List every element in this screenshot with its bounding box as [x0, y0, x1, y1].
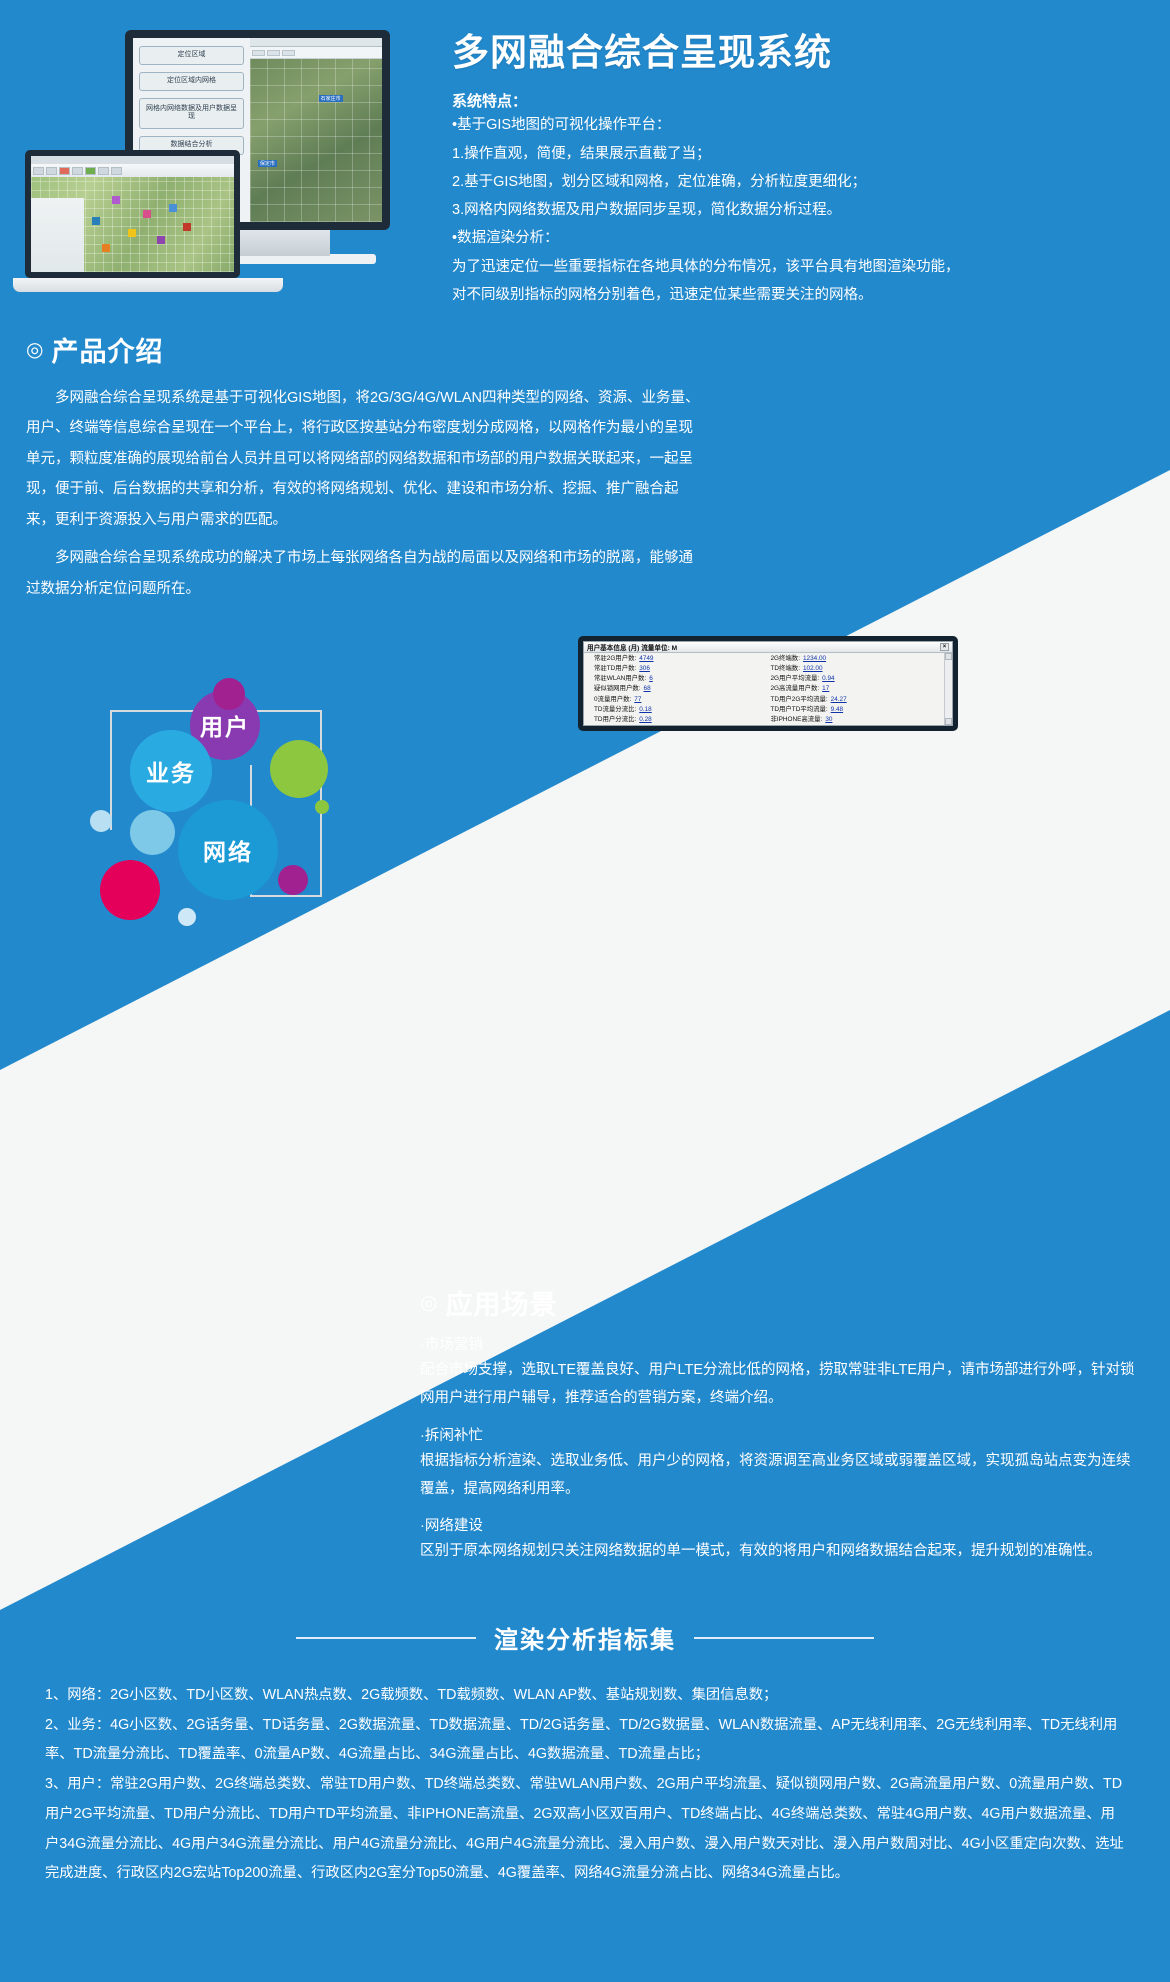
product-intro-heading: ◎ 产品介绍: [26, 330, 706, 369]
metric-row: 0流量用户数: 77: [594, 696, 765, 703]
section-title: 产品介绍: [51, 330, 163, 369]
metric-key: 疑似锁网用户数:: [594, 685, 641, 692]
metrics-heading: 渲染分析指标集: [0, 1620, 1170, 1655]
metric-value[interactable]: 306: [639, 665, 650, 672]
hero-text-block: 多网融合综合呈现系统 系统特点： •基于GIS地图的可视化操作平台： 1.操作直…: [452, 30, 1152, 309]
metric-row: 2G高流量用户数: 17: [771, 685, 942, 692]
hero-feature-line: •基于GIS地图的可视化操作平台：: [452, 111, 1152, 139]
scenario-text: 区别于原本网络规划只关注网络数据的单一模式，有效的将用户和网络数据结合起来，提升…: [420, 1537, 1135, 1565]
metric-value[interactable]: 24.27: [831, 696, 847, 703]
metric-key: TD用户分流比:: [594, 716, 636, 723]
metric-row: TD用户分流比: 0.28: [594, 716, 765, 723]
divider-left: [296, 1637, 476, 1639]
metric-value[interactable]: 68: [644, 685, 651, 692]
hero-subtitle: 系统特点：: [452, 90, 1152, 111]
concept-bubble-diagram: 用户 业务 网络: [60, 690, 480, 980]
scenario-title: ·拆闲补忙: [420, 1424, 1135, 1445]
metric-key: TD流量分流比:: [594, 706, 636, 713]
metrics-line: 2、业务：4G小区数、2G话务量、TD话务量、2G数据流量、TD数据流量、TD/…: [45, 1711, 1125, 1770]
metric-value[interactable]: 1234.00: [803, 655, 826, 662]
toolbar-button-icon[interactable]: [33, 167, 44, 175]
section-title: 应用场景: [445, 1283, 557, 1322]
hero-feature-line: •数据渲染分析：: [452, 224, 1152, 252]
dialog-scrollbar[interactable]: [944, 653, 952, 725]
laptop-titlebar: [31, 156, 234, 164]
metric-key: TD终端数:: [771, 665, 800, 672]
metric-value[interactable]: 6: [649, 675, 653, 682]
user-basic-info-dialog[interactable]: 用户基本信息 (月) 流量单位: M × 常驻2G用户数: 4749 常驻TD用…: [583, 641, 953, 726]
bubble-decor-pale2: [178, 908, 196, 926]
metric-value[interactable]: 0.94: [822, 675, 834, 682]
metrics-list: 1、网络：2G小区数、TD小区数、WLAN热点数、2G载频数、TD载频数、WLA…: [45, 1681, 1125, 1889]
metrics-section: 渲染分析指标集 1、网络：2G小区数、TD小区数、WLAN热点数、2G载频数、T…: [0, 1620, 1170, 1889]
metric-row: 常驻2G用户数: 4749: [594, 655, 765, 662]
scenario-title: ·网络建设: [420, 1514, 1135, 1535]
flow-step-3: 网格内网络数据及用户数据呈现: [139, 98, 244, 130]
bubble-decor-lightblue: [130, 810, 175, 855]
application-scenarios-heading: ◎ 应用场景: [420, 1283, 1135, 1322]
dialog-left-column: 常驻2G用户数: 4749 常驻TD用户数: 306 常驻WLAN用户数: 6: [594, 655, 765, 723]
toolbar-button-icon[interactable]: [72, 167, 83, 175]
metric-row: 常驻WLAN用户数: 6: [594, 675, 765, 682]
laptop-device: [25, 150, 270, 300]
metric-value[interactable]: 77: [634, 696, 641, 703]
metric-row: 疑似锁网用户数: 68: [594, 685, 765, 692]
circle-ring-icon: ◎: [26, 337, 44, 362]
metric-key: 常驻WLAN用户数:: [594, 675, 646, 682]
metric-value[interactable]: 102.00: [803, 665, 823, 672]
dialog-frame: 用户基本信息 (月) 流量单位: M × 常驻2G用户数: 4749 常驻TD用…: [578, 636, 958, 731]
metric-value[interactable]: 0.28: [639, 716, 651, 723]
hero-section: 定位区域 定位区域内网格 网格内网络数据及用户数据呈现 数据结合分析: [0, 0, 1170, 320]
laptop-screen: [31, 156, 234, 272]
device-illustration: 定位区域 定位区域内网格 网格内网络数据及用户数据呈现 数据结合分析: [125, 30, 435, 310]
metric-value[interactable]: 4749: [639, 655, 653, 662]
toolbar-button-icon[interactable]: [111, 167, 122, 175]
intro-paragraph: 多网融合综合呈现系统是基于可视化GIS地图，将2G/3G/4G/WLAN四种类型…: [26, 383, 706, 535]
metric-key: 常驻TD用户数:: [594, 665, 636, 672]
map-window-toolbar: [250, 47, 382, 59]
laptop-map-canvas[interactable]: [31, 177, 234, 272]
metrics-line: 1、网络：2G小区数、TD小区数、WLAN热点数、2G载频数、TD载频数、WLA…: [45, 1681, 1125, 1711]
metrics-line: 3、用户：常驻2G用户数、2G终端总类数、常驻TD用户数、TD终端总类数、常驻W…: [45, 1770, 1125, 1889]
connector-line: [110, 710, 112, 830]
hero-feature-line: 为了迅速定位一些重要指标在各地具体的分布情况，该平台具有地图渲染功能，: [452, 253, 1152, 281]
scenario-text: 根据指标分析渲染、选取业务低、用户少的网格，将资源调至高业务区域或弱覆盖区域，实…: [420, 1447, 1135, 1504]
laptop-lid: [25, 150, 240, 278]
bubble-label: 网络: [178, 800, 278, 900]
metric-key: 常驻2G用户数:: [594, 655, 636, 662]
laptop-toolbar: [31, 164, 234, 177]
metric-value[interactable]: 17: [822, 685, 829, 692]
metric-row: TD用户2G平均流量: 24.27: [771, 696, 942, 703]
hero-feature-line: 1.操作直观，简便，结果展示直截了当；: [452, 140, 1152, 168]
metric-row: TD用户TD平均流量: 9.48: [771, 706, 942, 713]
metric-key: 2G用户平均流量:: [771, 675, 820, 682]
divider-right: [694, 1637, 874, 1639]
map-water-region: [31, 198, 84, 272]
metric-value[interactable]: 30: [825, 716, 832, 723]
toolbar-button-icon[interactable]: [46, 167, 57, 175]
metric-row: TD流量分流比: 0.18: [594, 706, 765, 713]
map-label: 石家庄市: [319, 95, 343, 102]
bubble-decor-pale: [90, 810, 112, 832]
toolbar-button-icon[interactable]: [252, 50, 265, 56]
metric-row: 非IPHONE高流量: 30: [771, 716, 942, 723]
metric-key: TD用户TD平均流量:: [771, 706, 828, 713]
dialog-metrics-grid: 常驻2G用户数: 4749 常驻TD用户数: 306 常驻WLAN用户数: 6: [584, 653, 944, 725]
metric-row: 常驻TD用户数: 306: [594, 665, 765, 672]
scenario-text: 配合市场支撑，选取LTE覆盖良好、用户LTE分流比低的网格，捞取常驻非LTE用户…: [420, 1356, 1135, 1413]
scroll-down-arrow-icon[interactable]: [945, 718, 952, 725]
metric-row: TD终端数: 102.00: [771, 665, 942, 672]
section-title: 渲染分析指标集: [494, 1620, 676, 1655]
hero-feature-line: 2.基于GIS地图，划分区域和网格，定位准确，分析粒度更细化；: [452, 168, 1152, 196]
metric-key: TD用户2G平均流量:: [771, 696, 828, 703]
page-root: 定位区域 定位区域内网格 网格内网络数据及用户数据呈现 数据结合分析: [0, 0, 1170, 1982]
hero-feature-line: 对不同级别指标的网格分别着色，迅速定位某些需要关注的网格。: [452, 281, 1152, 309]
metric-key: 非IPHONE高流量:: [771, 716, 823, 723]
bubble-decor-magenta: [213, 678, 245, 710]
dialog-title: 用户基本信息 (月) 流量单位: M: [587, 642, 677, 652]
metric-row: 2G终端数: 1234.00: [771, 655, 942, 662]
bubble-decor-green: [270, 740, 328, 798]
page-title: 多网融合综合呈现系统: [452, 30, 1152, 76]
flow-step-1: 定位区域: [139, 46, 244, 65]
circle-ring-icon: ◎: [420, 1290, 438, 1315]
flow-step-2: 定位区域内网格: [139, 72, 244, 91]
metric-key: 2G高流量用户数:: [771, 685, 820, 692]
metric-row: 2G用户平均流量: 0.94: [771, 675, 942, 682]
hero-feature-line: 3.网格内网络数据及用户数据同步呈现，简化数据分析过程。: [452, 196, 1152, 224]
dialog-body: 常驻2G用户数: 4749 常驻TD用户数: 306 常驻WLAN用户数: 6: [584, 653, 952, 725]
toolbar-button-icon[interactable]: [59, 167, 70, 175]
close-icon[interactable]: ×: [940, 643, 949, 651]
intro-paragraph: 多网融合综合呈现系统成功的解决了市场上每张网络各自为战的局面以及网络和市场的脱离…: [26, 543, 706, 604]
metric-key: 0流量用户数:: [594, 696, 631, 703]
user-info-dialog-wrapper: 用户基本信息 (月) 流量单位: M × 常驻2G用户数: 4749 常驻TD用…: [578, 636, 958, 731]
metric-key: 2G终端数:: [771, 655, 800, 662]
toolbar-button-icon[interactable]: [85, 167, 96, 175]
product-intro-section: ◎ 产品介绍 多网融合综合呈现系统是基于可视化GIS地图，将2G/3G/4G/W…: [26, 330, 706, 604]
toolbar-button-icon[interactable]: [98, 167, 109, 175]
dialog-right-column: 2G终端数: 1234.00 TD终端数: 102.00 2G用户平均流量: 0…: [771, 655, 942, 723]
toolbar-button-icon[interactable]: [267, 50, 280, 56]
map-window-titlebar: [250, 38, 382, 47]
bubble-decor-green2: [315, 800, 329, 814]
metric-value[interactable]: 0.18: [639, 706, 651, 713]
metric-value[interactable]: 9.48: [831, 706, 843, 713]
bubble-network: 网络: [178, 800, 278, 900]
toolbar-button-icon[interactable]: [282, 50, 295, 56]
scroll-up-arrow-icon[interactable]: [945, 653, 952, 660]
dialog-titlebar: 用户基本信息 (月) 流量单位: M ×: [584, 642, 952, 653]
application-scenarios-section: ◎ 应用场景 ·市场营销 配合市场支撑，选取LTE覆盖良好、用户LTE分流比低的…: [420, 1283, 1135, 1565]
bubble-decor-magenta2: [278, 865, 308, 895]
scenario-title: ·市场营销: [420, 1333, 1135, 1354]
bubble-decor-pink: [100, 860, 160, 920]
